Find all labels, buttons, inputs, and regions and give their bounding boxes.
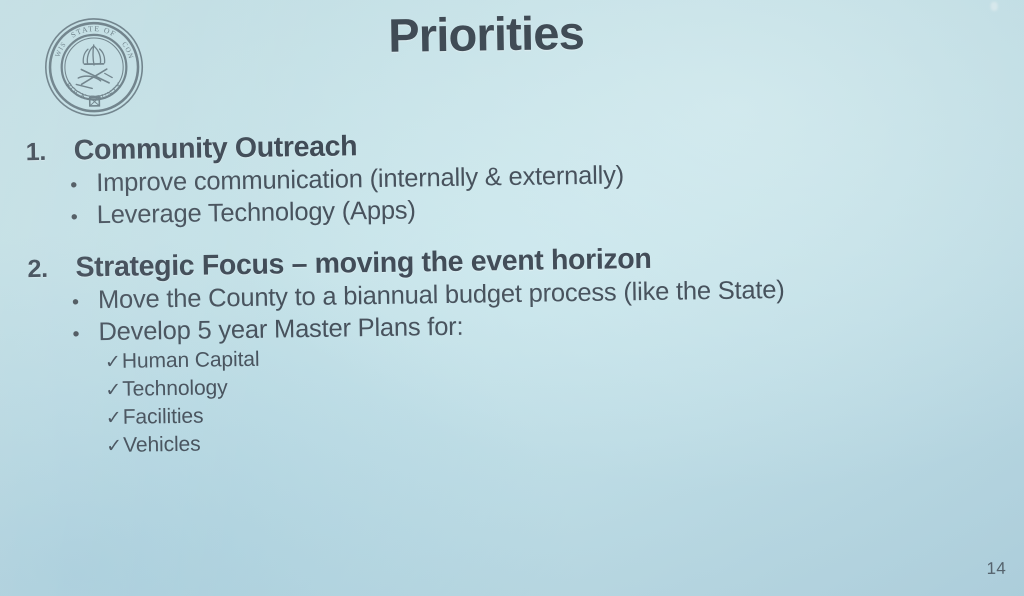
slide-content: STATE OF ROCK COUNTY WIS CON: [0, 0, 1024, 596]
checkmark-icon: ✓: [105, 381, 122, 400]
check-text: Facilities: [123, 405, 204, 430]
bullet-dot-icon: •: [71, 207, 97, 227]
slide-page-number: 14: [986, 559, 1006, 579]
master-plan-checklist: ✓ Human Capital ✓ Technology ✓ Facilitie…: [29, 337, 990, 459]
bullet-dot-icon: •: [70, 175, 96, 195]
bullet-text: Leverage Technology (Apps): [97, 196, 416, 230]
checkmark-icon: ✓: [106, 409, 123, 428]
slide-title: Priorities: [0, 0, 1020, 69]
check-text: Human Capital: [122, 348, 260, 374]
check-text: Vehicles: [123, 433, 201, 458]
priority-item-1: 1. Community Outreach • Improve communic…: [26, 121, 987, 231]
checkmark-icon: ✓: [105, 353, 122, 372]
bullet-text: Improve communication (internally & exte…: [96, 161, 624, 198]
bullet-dot-icon: •: [72, 324, 98, 344]
bullet-text: Develop 5 year Master Plans for:: [98, 313, 463, 347]
priorities-list: 1. Community Outreach • Improve communic…: [26, 121, 991, 463]
photo-speckle-artifact: [991, 2, 998, 11]
presentation-slide: STATE OF ROCK COUNTY WIS CON: [0, 0, 1024, 596]
checkmark-icon: ✓: [106, 437, 123, 456]
bullet-dot-icon: •: [72, 292, 98, 312]
priority-1-number: 1.: [26, 137, 74, 167]
priority-1-title: Community Outreach: [74, 130, 358, 167]
check-text: Technology: [122, 376, 228, 402]
svg-text:ROCK COUNTY: ROCK COUNTY: [64, 80, 125, 103]
priority-2-number: 2.: [27, 254, 75, 284]
priority-item-2: 2. Strategic Focus – moving the event ho…: [27, 238, 990, 459]
